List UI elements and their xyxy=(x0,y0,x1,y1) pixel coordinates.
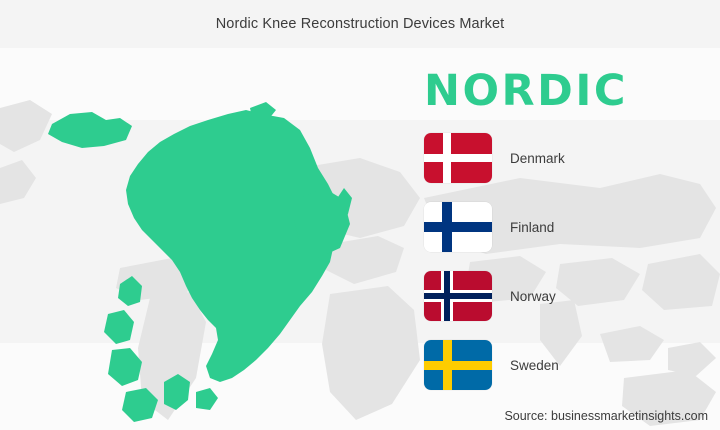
sweden-flag-icon xyxy=(424,340,492,390)
finland-flag-icon xyxy=(424,202,492,252)
legend-label-finland: Finland xyxy=(510,220,554,235)
legend-item-finland: Finland xyxy=(424,202,704,252)
map-area: NORDIC Denmark xyxy=(0,48,720,430)
legend-item-norway: Norway xyxy=(424,271,704,321)
norway-flag-icon xyxy=(424,271,492,321)
legend-item-denmark: Denmark xyxy=(424,133,704,183)
legend-label-norway: Norway xyxy=(510,289,556,304)
region-title: NORDIC xyxy=(424,66,628,116)
country-legend: Denmark Finland xyxy=(424,133,704,409)
denmark-flag-icon xyxy=(424,133,492,183)
legend-item-sweden: Sweden xyxy=(424,340,704,390)
infographic-canvas: Nordic Knee Reconstruction Devices Marke… xyxy=(0,0,720,430)
legend-label-sweden: Sweden xyxy=(510,358,559,373)
source-attribution: Source: businessmarketinsights.com xyxy=(504,409,708,423)
legend-label-denmark: Denmark xyxy=(510,151,565,166)
page-title: Nordic Knee Reconstruction Devices Marke… xyxy=(0,0,720,48)
